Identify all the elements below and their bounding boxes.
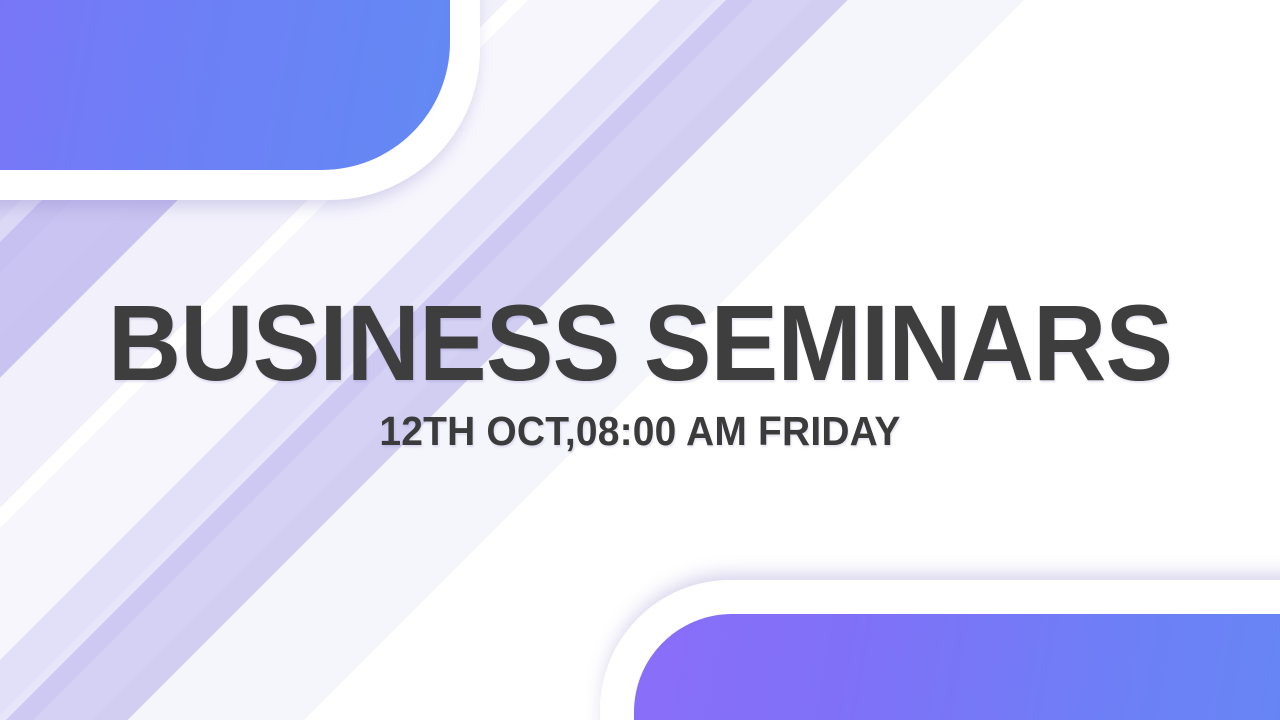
title-word-seminars: SEMINARS xyxy=(644,282,1172,403)
top-left-gradient-panel xyxy=(0,0,450,170)
event-datetime-text: 12TH OCT,08:00 AM FRIDAY xyxy=(32,408,1248,455)
title-word-business: BUSINESS xyxy=(108,282,619,403)
event-poster: BUSINESSSEMINARS 12TH OCT,08:00 AM FRIDA… xyxy=(0,0,1280,720)
headline-block: BUSINESSSEMINARS 12TH OCT,08:00 AM FRIDA… xyxy=(0,292,1280,455)
page-title: BUSINESSSEMINARS xyxy=(38,292,1241,394)
bottom-right-gradient-panel xyxy=(634,614,1280,720)
